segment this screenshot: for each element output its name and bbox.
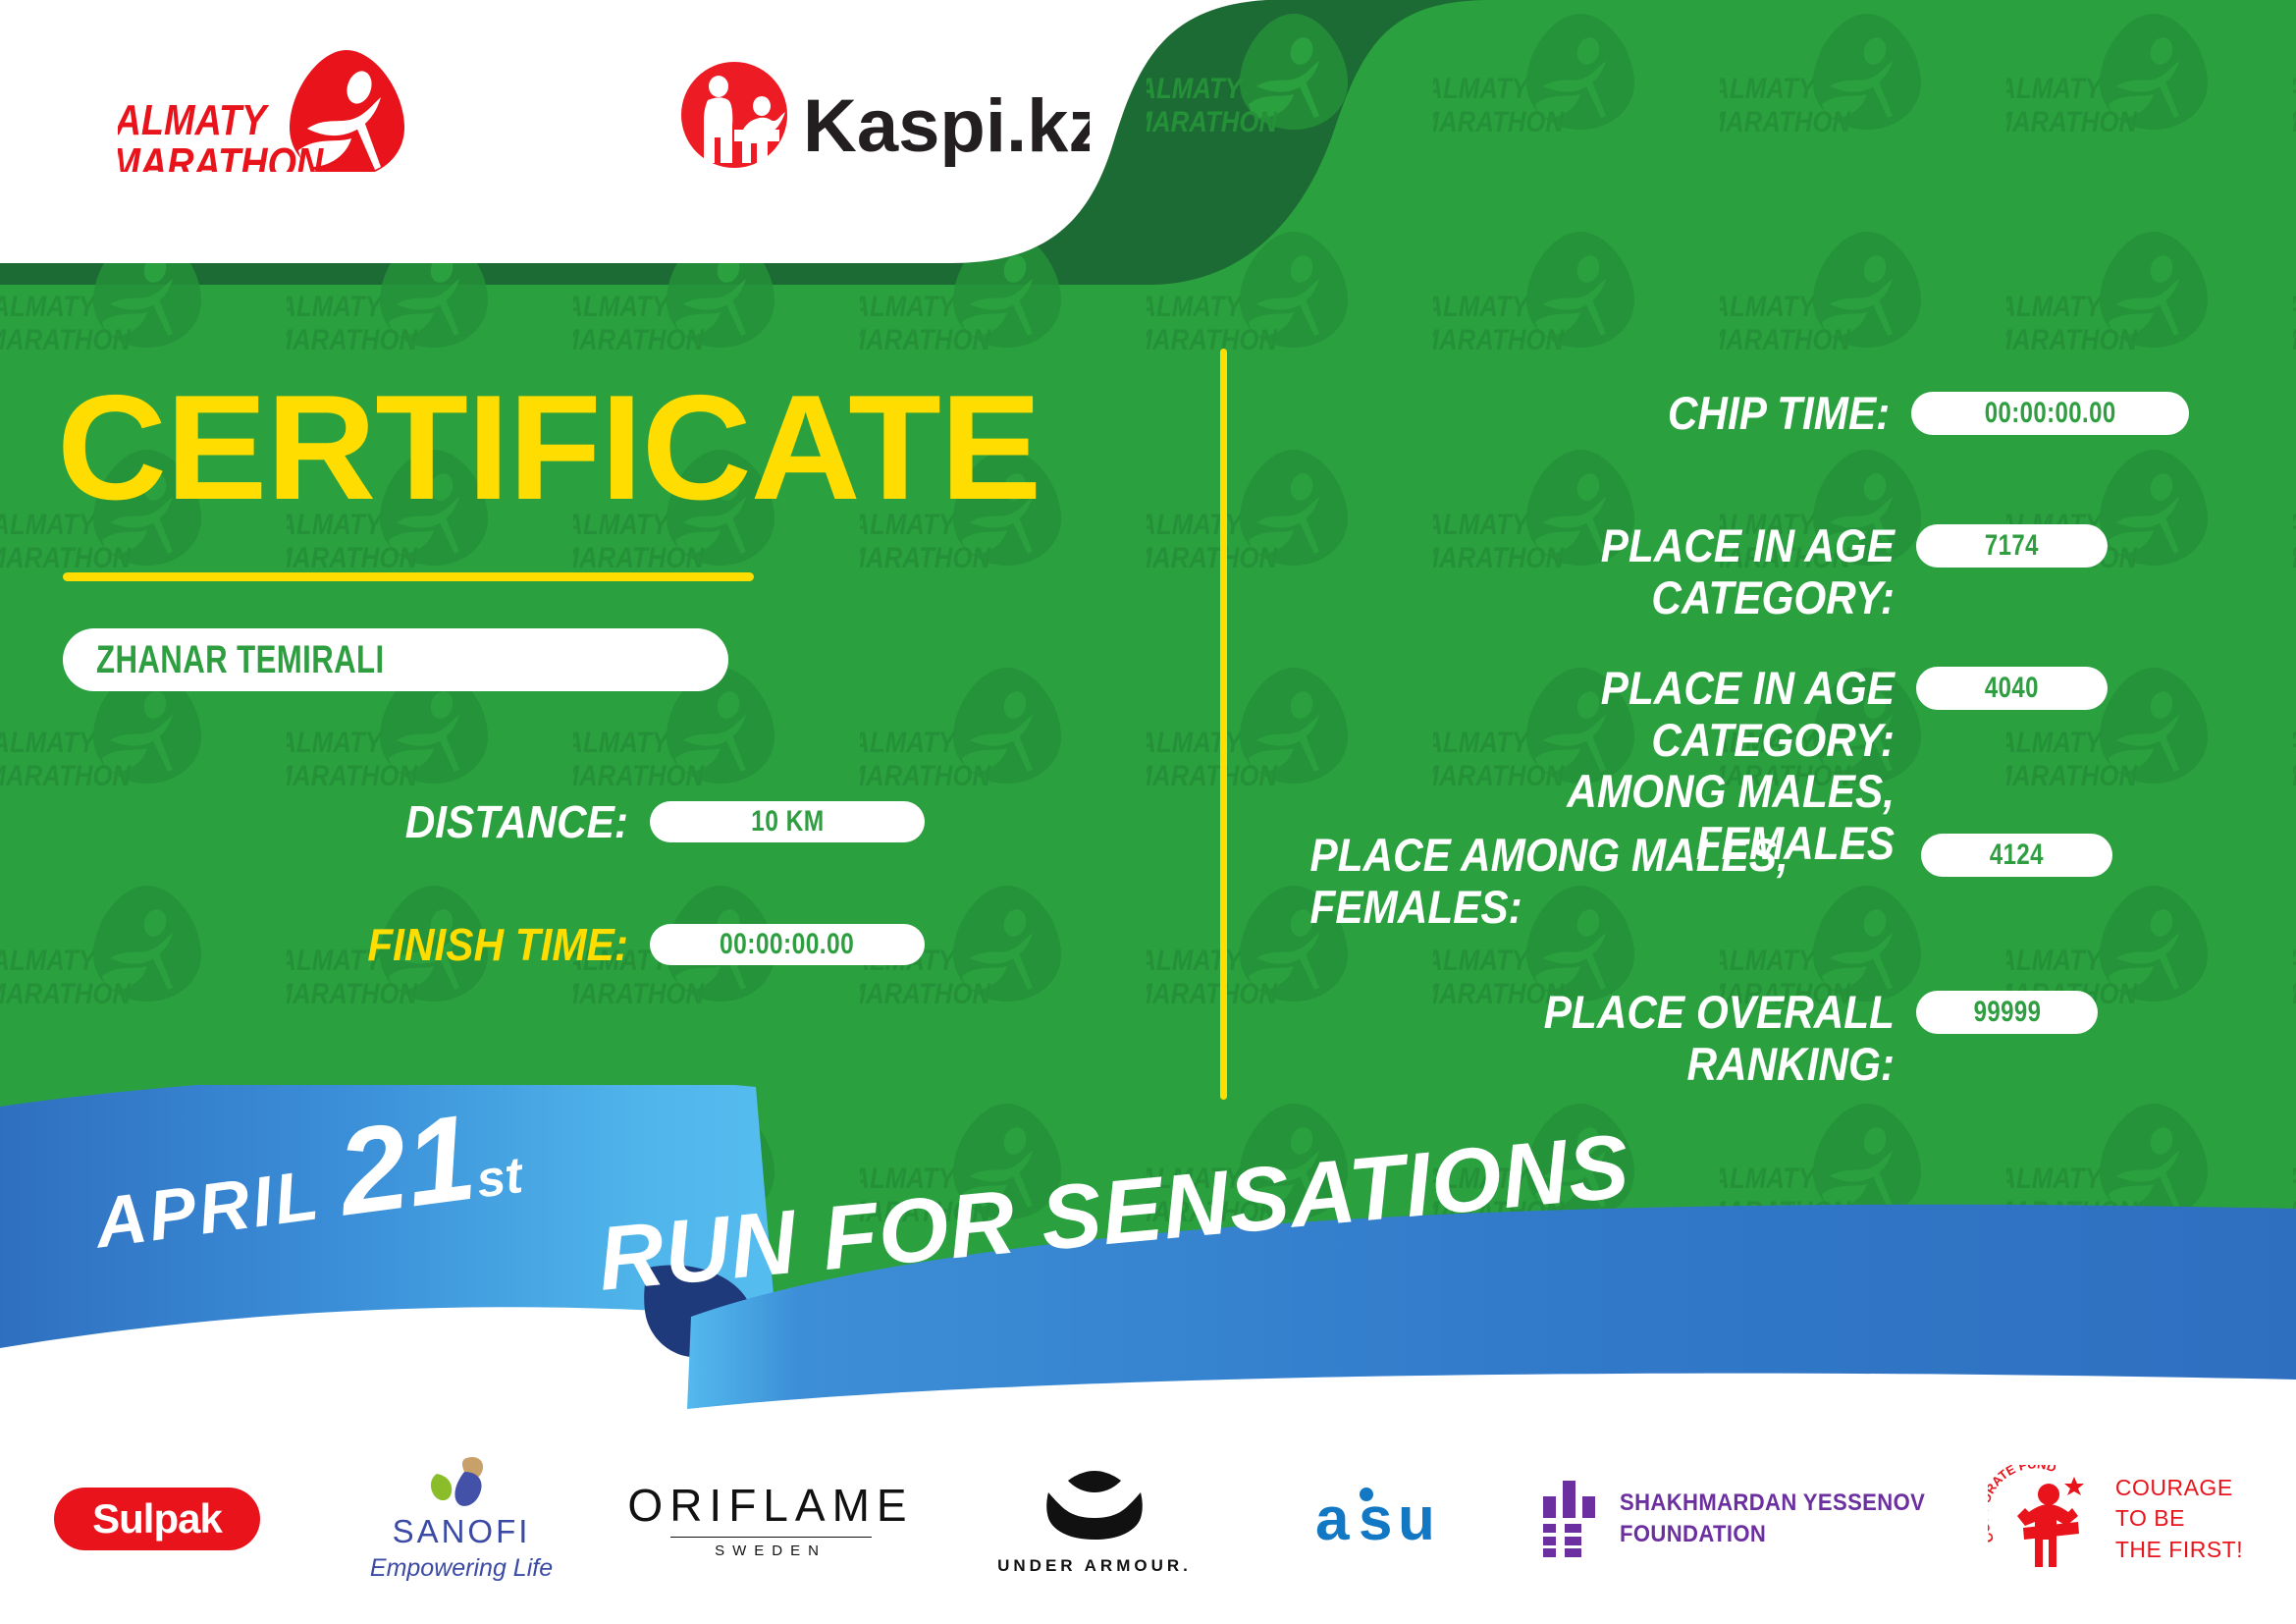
place-among-gender-value: 4124 (1990, 839, 2044, 872)
participant-name-value: ZHANAR TEMIRALI (96, 638, 385, 682)
place-overall-value: 99999 (1973, 996, 2041, 1029)
chip-time-value-pill[interactable]: 00:00:00.00 (1911, 392, 2189, 435)
distance-value-pill[interactable]: 10 KM (650, 801, 925, 842)
distance-value: 10 KM (751, 805, 825, 839)
sponsor-yessenov-foundation: SHAKHMARDAN YESSENOV FOUNDATION (1541, 1481, 1953, 1557)
participant-name-field[interactable]: ZHANAR TEMIRALI (63, 628, 728, 691)
place-age-category-gender-value-pill[interactable]: 4040 (1916, 667, 2108, 710)
kaspi-kz-logo: Kaspi.kz (677, 61, 1090, 169)
place-age-category-value-pill[interactable]: 7174 (1916, 524, 2108, 568)
yessenov-mark-icon (1541, 1481, 1602, 1557)
asu-logo-icon: a s u (1315, 1483, 1482, 1555)
finish-time-value-pill[interactable]: 00:00:00.00 (650, 924, 925, 965)
sponsor-sanofi: SANOFI Empowering Life (314, 1456, 609, 1583)
svg-text:MARATHON: MARATHON (118, 138, 324, 172)
page-title: CERTIFICATE (57, 373, 1041, 522)
sponsor-asu: a s u (1256, 1483, 1541, 1555)
event-ribbon: APRIL 21 st RUN FOR SENSATIONS (0, 1085, 2296, 1409)
corporate-fund-group: CORPORATE FUND COURAGE TO BE THE FIRST! (1988, 1465, 2243, 1573)
ribbon-day-suffix: st (473, 1146, 526, 1211)
place-among-gender-label: PLACE AMONG MALES, FEMALES: (1306, 830, 1841, 933)
almaty-marathon-logo: ALMATY MARATHON (118, 44, 422, 172)
yessenov-label-line2: FOUNDATION (1620, 1519, 1925, 1550)
under-armour-mark-icon (1021, 1463, 1168, 1547)
place-among-gender-value-pill[interactable]: 4124 (1921, 834, 2112, 877)
place-overall-value-pill[interactable]: 99999 (1916, 991, 2098, 1034)
sponsor-under-armour: UNDER ARMOUR. (933, 1463, 1256, 1576)
sponsor-corporate-fund: CORPORATE FUND COURAGE TO BE THE FIRST! (1953, 1465, 2277, 1573)
corporate-fund-line2: TO BE (2115, 1503, 2243, 1534)
row-place-among-gender: PLACE AMONG MALES, FEMALES: 4124 (1306, 830, 2189, 933)
oriflame-label: ORIFLAME (627, 1479, 913, 1532)
svg-text:a: a (1315, 1486, 1350, 1553)
chip-time-value: 00:00:00.00 (1985, 397, 2116, 430)
sanofi-label: SANOFI (393, 1513, 531, 1550)
sanofi-tagline: Empowering Life (370, 1554, 553, 1583)
ribbon-day: 21 (332, 1097, 482, 1235)
place-overall-label: PLACE OVERALL RANKING: (1364, 987, 1895, 1090)
finish-time-label: FINISH TIME: (294, 918, 628, 971)
certificate-canvas: ALMATY MARATHON ALMATY MARATHON (0, 0, 2296, 1624)
sponsor-sulpak: Sulpak (0, 1488, 314, 1550)
row-distance: DISTANCE: 10 KM (265, 795, 933, 848)
svg-text:Kaspi.kz: Kaspi.kz (803, 84, 1090, 168)
sponsor-oriflame: ORIFLAME SWEDEN (609, 1479, 933, 1560)
row-place-overall: PLACE OVERALL RANKING: 99999 (1306, 987, 2189, 1090)
row-finish-time: FINISH TIME: 00:00:00.00 (265, 918, 933, 971)
sanofi-mark-icon (427, 1456, 496, 1513)
under-armour-label: UNDER ARMOUR. (997, 1556, 1192, 1576)
place-age-category-value: 7174 (1985, 529, 2039, 563)
sulpak-label: Sulpak (92, 1495, 222, 1543)
svg-text:ALMATY: ALMATY (118, 95, 270, 143)
finish-time-value: 00:00:00.00 (720, 928, 854, 961)
corporate-fund-line1: COURAGE (2115, 1473, 2243, 1503)
place-age-category-label: PLACE IN AGE CATEGORY: (1364, 520, 1895, 623)
oriflame-tagline: SWEDEN (715, 1543, 827, 1559)
yessenov-group: SHAKHMARDAN YESSENOV FOUNDATION (1541, 1481, 1951, 1557)
oriflame-divider (670, 1537, 872, 1539)
title-underline (63, 572, 754, 581)
column-divider (1220, 349, 1227, 1100)
chip-time-label: CHIP TIME: (1364, 388, 1891, 440)
svg-text:s: s (1359, 1486, 1392, 1553)
place-age-category-gender-value: 4040 (1985, 672, 2039, 705)
corporate-fund-line3: THE FIRST! (2115, 1535, 2243, 1565)
distance-label: DISTANCE: (294, 795, 628, 848)
svg-text:u: u (1398, 1486, 1435, 1553)
sponsor-bar: Sulpak SANOFI Empowering Life ORIFLAME S… (0, 1414, 2296, 1624)
yessenov-label-line1: SHAKHMARDAN YESSENOV (1620, 1488, 1925, 1519)
corporate-fund-mark-icon: CORPORATE FUND (1988, 1465, 2104, 1573)
row-place-age-category: PLACE IN AGE CATEGORY: 7174 (1306, 520, 2189, 623)
sulpak-logo: Sulpak (54, 1488, 260, 1550)
row-chip-time: CHIP TIME: 00:00:00.00 (1306, 388, 2189, 440)
